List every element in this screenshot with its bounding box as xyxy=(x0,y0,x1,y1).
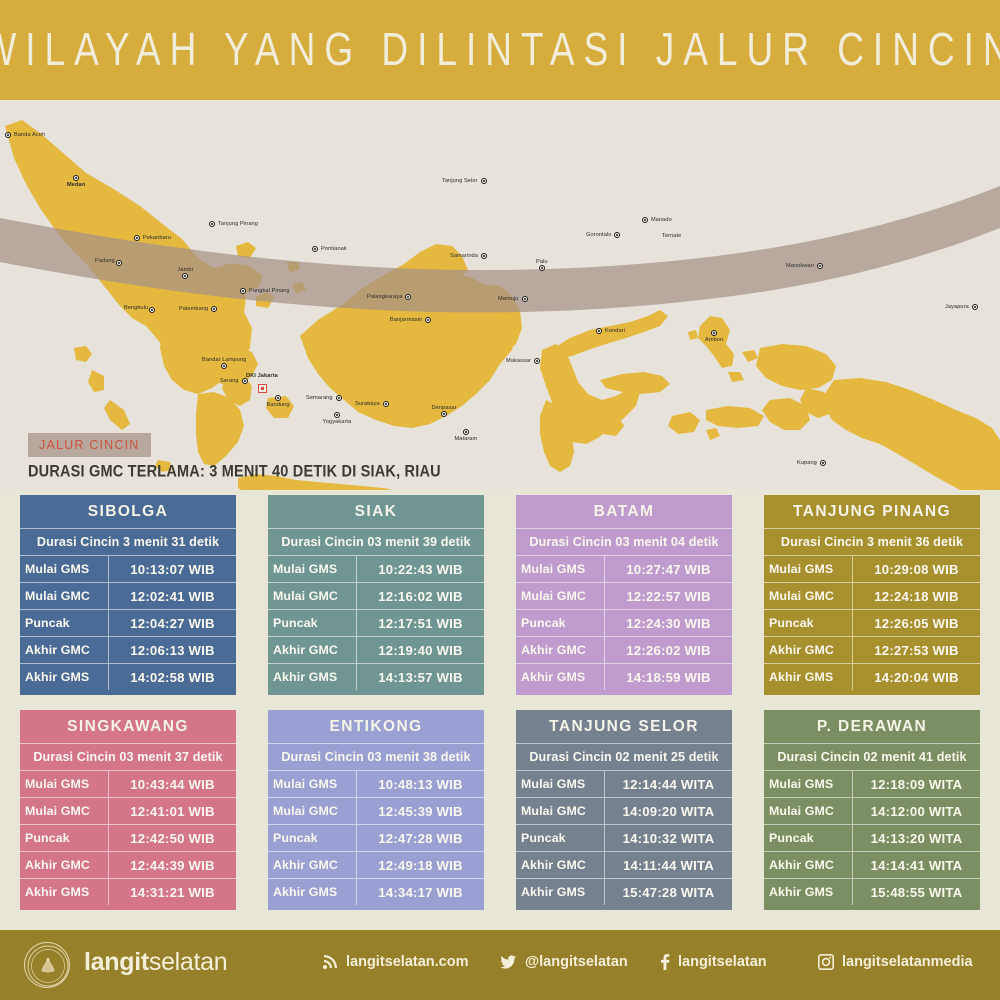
row-label: Puncak xyxy=(764,825,852,851)
row-value: 14:14:41 WITA xyxy=(852,852,980,878)
city-card-row: Mulai GMS10:48:13 WIB xyxy=(268,770,484,797)
rss-icon xyxy=(322,954,338,970)
landmass-sulawesi-north-arm xyxy=(554,310,668,358)
row-value: 12:19:40 WIB xyxy=(356,637,484,663)
row-value: 12:24:18 WIB xyxy=(852,583,980,609)
city-label: Jayapura xyxy=(945,304,969,310)
row-value: 15:48:55 WITA xyxy=(852,879,980,905)
city-label: Banjarmasin xyxy=(390,317,422,323)
city-marker xyxy=(209,221,215,227)
city-marker xyxy=(642,217,648,223)
row-value: 12:49:18 WIB xyxy=(356,852,484,878)
link-facebook[interactable]: langitselatan xyxy=(660,954,767,970)
city-label: Bengkulu xyxy=(124,305,148,311)
city-card-row: Mulai GMC12:24:18 WIB xyxy=(764,582,980,609)
city-label: Pangkal Pinang xyxy=(249,288,290,294)
link-website[interactable]: langitselatan.com xyxy=(322,954,468,970)
row-value: 15:47:28 WITA xyxy=(604,879,732,905)
city-label: Surabaya xyxy=(355,401,380,407)
row-label: Akhir GMS xyxy=(516,879,604,905)
row-value: 12:26:02 WIB xyxy=(604,637,732,663)
city-card-row: Akhir GMS14:13:57 WIB xyxy=(268,663,484,690)
city-card-row: Mulai GMC12:16:02 WIB xyxy=(268,582,484,609)
city-card-row: Puncak12:24:30 WIB xyxy=(516,609,732,636)
island-ternate xyxy=(688,330,698,340)
row-label: Puncak xyxy=(268,610,356,636)
city-card-duration: Durasi Cincin 03 menit 37 detik xyxy=(20,743,236,770)
page-title: WILAYAH YANG DILINTASI JALUR CINCIN xyxy=(0,24,1000,77)
city-label: Pekanbaru xyxy=(143,235,171,241)
city-card-row: Mulai GMC12:45:39 WIB xyxy=(268,797,484,824)
city-card-title: SINGKAWANG xyxy=(20,710,236,743)
city-marker xyxy=(211,306,217,312)
city-label: Semarang xyxy=(306,395,333,401)
city-marker xyxy=(614,232,620,238)
row-value: 12:26:05 WIB xyxy=(852,610,980,636)
city-marker xyxy=(441,411,447,417)
row-label: Akhir GMC xyxy=(268,637,356,663)
city-marker xyxy=(240,288,246,294)
city-card-row: Akhir GMC14:11:44 WITA xyxy=(516,851,732,878)
city-label: Makassar xyxy=(506,358,531,364)
infographic-page: WILAYAH YANG DILINTASI JALUR CINCIN xyxy=(0,0,1000,1000)
link-website-label: langitselatan.com xyxy=(346,954,468,970)
row-value: 12:24:30 WIB xyxy=(604,610,732,636)
row-label: Mulai GMC xyxy=(516,583,604,609)
langitselatan-logo-icon xyxy=(24,942,70,988)
city-card-title: P. DERAWAN xyxy=(764,710,980,743)
row-label: Puncak xyxy=(516,610,604,636)
row-label: Puncak xyxy=(20,610,108,636)
city-card-row: Akhir GMC12:19:40 WIB xyxy=(268,636,484,663)
row-value: 12:16:02 WIB xyxy=(356,583,484,609)
city-label: Ambon xyxy=(705,337,723,343)
city-marker xyxy=(134,235,140,241)
city-marker xyxy=(425,317,431,323)
row-value: 14:13:20 WITA xyxy=(852,825,980,851)
city-marker xyxy=(336,395,342,401)
city-card-duration: Durasi Cincin 02 menit 41 detik xyxy=(764,743,980,770)
island-mentawai-1 xyxy=(88,370,104,392)
row-value: 12:02:41 WIB xyxy=(108,583,236,609)
row-label: Mulai GMC xyxy=(268,583,356,609)
city-marker xyxy=(5,132,11,138)
row-value: 14:09:20 WITA xyxy=(604,798,732,824)
row-label: Akhir GMC xyxy=(268,852,356,878)
row-label: Akhir GMC xyxy=(764,637,852,663)
row-label: Akhir GMS xyxy=(516,664,604,690)
row-value: 12:18:09 WITA xyxy=(852,771,980,797)
row-value: 12:45:39 WIB xyxy=(356,798,484,824)
city-card-row: Akhir GMC14:14:41 WITA xyxy=(764,851,980,878)
row-value: 10:29:08 WIB xyxy=(852,556,980,582)
city-card-title: SIBOLGA xyxy=(20,495,236,528)
city-label: Ternate xyxy=(662,233,681,239)
link-instagram[interactable]: langitselatanmedia xyxy=(818,954,973,970)
row-value: 12:27:53 WIB xyxy=(852,637,980,663)
row-value: 12:41:01 WIB xyxy=(108,798,236,824)
city-card-row: Akhir GMC12:26:02 WIB xyxy=(516,636,732,663)
city-card-row: Akhir GMS14:02:58 WIB xyxy=(20,663,236,690)
city-card-row: Akhir GMS14:18:59 WIB xyxy=(516,663,732,690)
city-marker xyxy=(334,412,340,418)
city-card-row: Mulai GMC14:12:00 WITA xyxy=(764,797,980,824)
link-twitter[interactable]: @langitselatan xyxy=(500,954,628,970)
city-label: Manokwari xyxy=(786,263,814,269)
city-card-row: Mulai GMS10:27:47 WIB xyxy=(516,555,732,582)
row-value: 12:22:57 WIB xyxy=(604,583,732,609)
row-label: Puncak xyxy=(516,825,604,851)
row-value: 10:43:44 WIB xyxy=(108,771,236,797)
row-label: Mulai GMS xyxy=(516,771,604,797)
city-card-row: Mulai GMS10:43:44 WIB xyxy=(20,770,236,797)
city-card-row: Mulai GMS12:18:09 WITA xyxy=(764,770,980,797)
row-value: 14:11:44 WITA xyxy=(604,852,732,878)
row-value: 10:13:07 WIB xyxy=(108,556,236,582)
row-value: 10:22:43 WIB xyxy=(356,556,484,582)
row-value: 12:44:39 WIB xyxy=(108,852,236,878)
row-label: Akhir GMC xyxy=(516,637,604,663)
city-card-duration: Durasi Cincin 3 menit 31 detik xyxy=(20,528,236,555)
row-label: Mulai GMS xyxy=(20,556,108,582)
city-label: Tanjung Pinang xyxy=(218,221,258,227)
city-marker xyxy=(73,175,79,181)
row-value: 12:14:44 WITA xyxy=(604,771,732,797)
city-card-duration: Durasi Cincin 03 menit 04 detik xyxy=(516,528,732,555)
row-value: 12:06:13 WIB xyxy=(108,637,236,663)
brand-wordmark: langitselatan xyxy=(84,948,227,977)
island-rajaampat-2 xyxy=(728,372,744,382)
city-card-row: Akhir GMS14:31:21 WIB xyxy=(20,878,236,905)
city-card-row: Mulai GMS10:22:43 WIB xyxy=(268,555,484,582)
city-card-row: Mulai GMS12:14:44 WITA xyxy=(516,770,732,797)
city-card-row: Akhir GMS14:20:04 WIB xyxy=(764,663,980,690)
city-card-row: Puncak14:13:20 WITA xyxy=(764,824,980,851)
landmass-sulawesi-e-arm xyxy=(600,372,670,394)
legend-duration-note: DURASI GMC TERLAMA: 3 MENIT 40 DETIK DI … xyxy=(28,463,441,481)
city-card: SIAKDurasi Cincin 03 menit 39 detikMulai… xyxy=(268,495,484,695)
row-value: 14:02:58 WIB xyxy=(108,664,236,690)
instagram-icon xyxy=(818,954,834,970)
row-value: 12:42:50 WIB xyxy=(108,825,236,851)
city-card-title: BATAM xyxy=(516,495,732,528)
city-card-duration: Durasi Cincin 03 menit 39 detik xyxy=(268,528,484,555)
city-card-row: Mulai GMS10:29:08 WIB xyxy=(764,555,980,582)
row-label: Puncak xyxy=(268,825,356,851)
legend-jalur-cincin: JALUR CINCIN xyxy=(28,433,151,457)
city-card-row: Akhir GMC12:06:13 WIB xyxy=(20,636,236,663)
city-marker xyxy=(711,330,717,336)
city-label: Jambi xyxy=(178,267,193,273)
city-card-row: Akhir GMS15:47:28 WITA xyxy=(516,878,732,905)
row-value: 12:47:28 WIB xyxy=(356,825,484,851)
city-card: SIBOLGADurasi Cincin 3 menit 31 detikMul… xyxy=(20,495,236,695)
city-marker xyxy=(182,273,188,279)
brand-bold: langit xyxy=(84,948,149,976)
city-label: Banda Aceh xyxy=(14,132,45,138)
city-card-row: Akhir GMC12:49:18 WIB xyxy=(268,851,484,878)
row-label: Akhir GMS xyxy=(764,879,852,905)
row-value: 14:10:32 WITA xyxy=(604,825,732,851)
row-label: Akhir GMC xyxy=(764,852,852,878)
city-label: Tanjung Selor xyxy=(442,178,478,184)
row-value: 14:12:00 WITA xyxy=(852,798,980,824)
city-label: Palu xyxy=(536,259,548,265)
city-marker xyxy=(539,265,545,271)
link-facebook-label: langitselatan xyxy=(678,954,767,970)
city-card: ENTIKONGDurasi Cincin 03 menit 38 detikM… xyxy=(268,710,484,910)
city-label: Padang xyxy=(95,258,115,264)
row-value: 10:27:47 WIB xyxy=(604,556,732,582)
city-marker xyxy=(481,178,487,184)
city-card: P. DERAWANDurasi Cincin 02 menit 41 deti… xyxy=(764,710,980,910)
city-marker xyxy=(972,304,978,310)
city-card-duration: Durasi Cincin 02 menit 25 detik xyxy=(516,743,732,770)
row-label: Puncak xyxy=(764,610,852,636)
capital-marker xyxy=(258,384,267,393)
city-card-row: Akhir GMS15:48:55 WITA xyxy=(764,878,980,905)
city-label: DKI Jakarta xyxy=(246,373,278,379)
row-label: Akhir GMS xyxy=(764,664,852,690)
city-card-row: Mulai GMC14:09:20 WITA xyxy=(516,797,732,824)
row-label: Mulai GMC xyxy=(20,798,108,824)
city-label: Mamuju xyxy=(498,296,519,302)
city-card-row: Puncak12:42:50 WIB xyxy=(20,824,236,851)
city-card-duration: Durasi Cincin 03 menit 38 detik xyxy=(268,743,484,770)
row-label: Akhir GMC xyxy=(20,637,108,663)
city-card-row: Akhir GMC12:27:53 WIB xyxy=(764,636,980,663)
row-label: Akhir GMS xyxy=(268,879,356,905)
city-marker xyxy=(817,263,823,269)
row-value: 12:04:27 WIB xyxy=(108,610,236,636)
landmass-papua-birdshead xyxy=(756,344,836,390)
city-label: Bandar Lampung xyxy=(202,357,246,363)
city-marker xyxy=(383,401,389,407)
row-label: Mulai GMC xyxy=(764,583,852,609)
city-card: TANJUNG SELORDurasi Cincin 02 menit 25 d… xyxy=(516,710,732,910)
city-marker xyxy=(596,328,602,334)
row-label: Mulai GMS xyxy=(764,556,852,582)
city-label: Gorontalo xyxy=(586,232,611,238)
row-label: Mulai GMC xyxy=(20,583,108,609)
city-label: Denpasar xyxy=(432,405,457,411)
city-label: Manado xyxy=(651,217,672,223)
city-card-title: SIAK xyxy=(268,495,484,528)
row-value: 14:20:04 WIB xyxy=(852,664,980,690)
footer-bar: langitselatan langitselatan.com @langits… xyxy=(0,930,1000,1000)
city-marker xyxy=(275,395,281,401)
city-marker xyxy=(116,260,122,266)
row-label: Mulai GMS xyxy=(268,556,356,582)
row-value: 14:31:21 WIB xyxy=(108,879,236,905)
city-marker xyxy=(405,294,411,300)
row-label: Puncak xyxy=(20,825,108,851)
city-card-row: Puncak12:26:05 WIB xyxy=(764,609,980,636)
twitter-icon xyxy=(500,955,517,970)
city-card-row: Puncak12:17:51 WIB xyxy=(268,609,484,636)
city-marker xyxy=(481,253,487,259)
row-label: Akhir GMS xyxy=(268,664,356,690)
island-rajaampat-1 xyxy=(742,350,758,362)
row-label: Mulai GMS xyxy=(268,771,356,797)
row-label: Mulai GMS xyxy=(20,771,108,797)
row-label: Mulai GMC xyxy=(516,798,604,824)
link-instagram-label: langitselatanmedia xyxy=(842,954,973,970)
city-label: Pontianak xyxy=(321,246,347,252)
city-card-row: Akhir GMC12:44:39 WIB xyxy=(20,851,236,878)
map-legend: JALUR CINCIN DURASI GMC TERLAMA: 3 MENIT… xyxy=(0,425,1000,490)
city-label: Samarinda xyxy=(450,253,478,259)
facebook-icon xyxy=(660,954,670,970)
city-label: Serang xyxy=(220,378,239,384)
row-label: Mulai GMC xyxy=(764,798,852,824)
city-card: BATAMDurasi Cincin 03 menit 04 detikMula… xyxy=(516,495,732,695)
row-label: Mulai GMS xyxy=(516,556,604,582)
city-card-row: Mulai GMC12:02:41 WIB xyxy=(20,582,236,609)
city-marker xyxy=(534,358,540,364)
row-label: Akhir GMC xyxy=(20,852,108,878)
city-card-duration: Durasi Cincin 3 menit 36 detik xyxy=(764,528,980,555)
row-value: 14:13:57 WIB xyxy=(356,664,484,690)
island-nias xyxy=(74,346,92,362)
city-marker xyxy=(149,307,155,313)
city-card-title: TANJUNG SELOR xyxy=(516,710,732,743)
city-card-row: Akhir GMS14:34:17 WIB xyxy=(268,878,484,905)
city-label: Kendari xyxy=(605,328,625,334)
row-label: Mulai GMC xyxy=(268,798,356,824)
row-label: Akhir GMS xyxy=(20,879,108,905)
city-card-row: Mulai GMS10:13:07 WIB xyxy=(20,555,236,582)
city-card: TANJUNG PINANGDurasi Cincin 3 menit 36 d… xyxy=(764,495,980,695)
city-card-row: Puncak12:04:27 WIB xyxy=(20,609,236,636)
brand-light: selatan xyxy=(149,948,228,976)
row-value: 14:34:17 WIB xyxy=(356,879,484,905)
city-card-row: Mulai GMC12:22:57 WIB xyxy=(516,582,732,609)
city-card-title: ENTIKONG xyxy=(268,710,484,743)
city-card-row: Puncak14:10:32 WITA xyxy=(516,824,732,851)
city-label: Palembang xyxy=(179,306,208,312)
city-label: Palangkaraya xyxy=(367,294,402,300)
city-marker xyxy=(221,363,227,369)
city-card-row: Puncak12:47:28 WIB xyxy=(268,824,484,851)
row-label: Akhir GMC xyxy=(516,852,604,878)
row-label: Akhir GMS xyxy=(20,664,108,690)
header-banner: WILAYAH YANG DILINTASI JALUR CINCIN xyxy=(0,0,1000,100)
row-value: 10:48:13 WIB xyxy=(356,771,484,797)
city-timing-cards: SIBOLGADurasi Cincin 3 menit 31 detikMul… xyxy=(0,495,1000,927)
link-twitter-label: @langitselatan xyxy=(525,954,628,970)
city-card-row: Mulai GMC12:41:01 WIB xyxy=(20,797,236,824)
row-label: Mulai GMS xyxy=(764,771,852,797)
city-card-title: TANJUNG PINANG xyxy=(764,495,980,528)
row-value: 14:18:59 WIB xyxy=(604,664,732,690)
city-label: Bandung xyxy=(267,402,290,408)
row-value: 12:17:51 WIB xyxy=(356,610,484,636)
city-marker xyxy=(522,296,528,302)
city-label: Medan xyxy=(67,182,85,188)
city-card: SINGKAWANGDurasi Cincin 03 menit 37 deti… xyxy=(20,710,236,910)
city-marker xyxy=(312,246,318,252)
